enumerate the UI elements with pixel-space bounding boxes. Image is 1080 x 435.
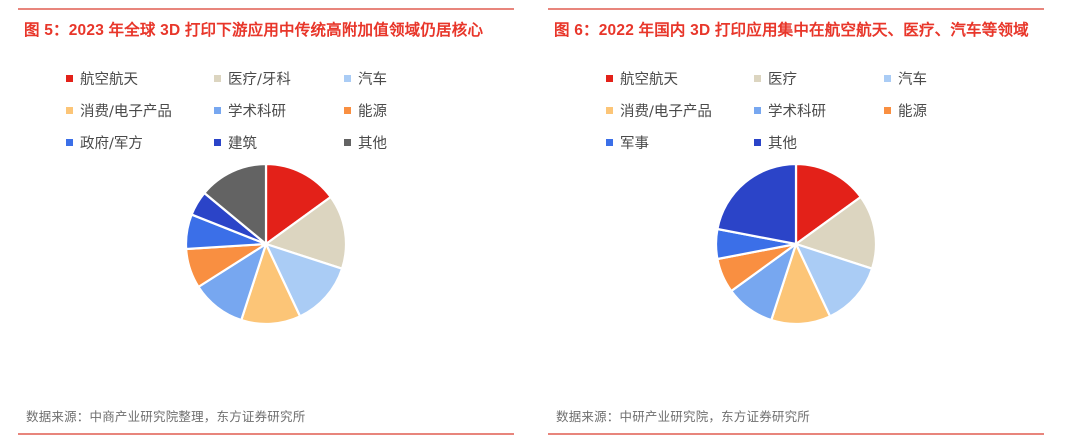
legend-item[interactable]: 其他 — [754, 132, 884, 153]
legend-item[interactable]: 学术科研 — [214, 100, 344, 121]
legend-item-label: 消费/电子产品 — [80, 100, 172, 121]
legend-swatch-icon — [884, 75, 891, 82]
pie-chart — [711, 159, 881, 329]
legend-swatch-icon — [66, 75, 73, 82]
legend-swatch-icon — [754, 107, 761, 114]
legend-swatch-icon — [606, 107, 613, 114]
pie-chart-area — [548, 153, 1044, 407]
figure-panel-6: 图 6：2022 年国内 3D 打印应用集中在航空航天、医疗、汽车等领域 航空航… — [548, 8, 1044, 435]
legend-item-label: 学术科研 — [228, 100, 286, 121]
legend: 航空航天医疗/牙科汽车消费/电子产品学术科研能源政府/军方建筑其他 — [18, 62, 514, 153]
legend-item[interactable]: 能源 — [884, 100, 1044, 121]
legend-item[interactable]: 航空航天 — [66, 68, 214, 89]
legend-swatch-icon — [884, 107, 891, 114]
source-note: 数据来源：中研产业研究院，东方证券研究所 — [548, 406, 1044, 433]
legend-item[interactable]: 消费/电子产品 — [606, 100, 754, 121]
legend-item[interactable]: 消费/电子产品 — [66, 100, 214, 121]
legend-item-label: 其他 — [768, 132, 797, 153]
legend-item-label: 消费/电子产品 — [620, 100, 712, 121]
pie-slice[interactable] — [717, 164, 796, 244]
legend-item-label: 能源 — [358, 100, 387, 121]
legend-item[interactable]: 学术科研 — [754, 100, 884, 121]
legend-item[interactable]: 航空航天 — [606, 68, 754, 89]
legend-item-label: 航空航天 — [80, 68, 138, 89]
legend-item[interactable]: 其他 — [344, 132, 514, 153]
legend-swatch-icon — [214, 107, 221, 114]
legend-swatch-icon — [606, 75, 613, 82]
legend-item-label: 学术科研 — [768, 100, 826, 121]
legend-item[interactable]: 军事 — [606, 132, 754, 153]
legend: 航空航天医疗汽车消费/电子产品学术科研能源军事其他 — [548, 62, 1044, 153]
legend-item[interactable]: 汽车 — [884, 68, 1044, 89]
legend-item[interactable]: 汽车 — [344, 68, 514, 89]
figure-panel-5: 图 5：2023 年全球 3D 打印下游应用中传统高附加值领域仍居核心 航空航天… — [18, 8, 514, 435]
legend-item-label: 汽车 — [898, 68, 927, 89]
pie-svg — [181, 159, 351, 329]
legend-item-label: 航空航天 — [620, 68, 678, 89]
legend-swatch-icon — [66, 107, 73, 114]
legend-item-label: 建筑 — [228, 132, 257, 153]
legend-swatch-icon — [754, 75, 761, 82]
source-note: 数据来源：中商产业研究院整理，东方证券研究所 — [18, 406, 514, 433]
legend-swatch-icon — [754, 139, 761, 146]
legend-item-label: 其他 — [358, 132, 387, 153]
legend-item-label: 能源 — [898, 100, 927, 121]
legend-item[interactable]: 医疗/牙科 — [214, 68, 344, 89]
legend-item[interactable]: 政府/军方 — [66, 132, 214, 153]
legend-item-label: 医疗/牙科 — [228, 68, 291, 89]
legend-item-label: 医疗 — [768, 68, 797, 89]
legend-swatch-icon — [606, 139, 613, 146]
legend-swatch-icon — [344, 139, 351, 146]
legend-swatch-icon — [344, 107, 351, 114]
page-title: 图 5：2023 年全球 3D 打印下游应用中传统高附加值领域仍居核心 — [18, 10, 514, 62]
legend-item-label: 军事 — [620, 132, 649, 153]
legend-swatch-icon — [66, 139, 73, 146]
figures-container: 图 5：2023 年全球 3D 打印下游应用中传统高附加值领域仍居核心 航空航天… — [0, 0, 1080, 435]
legend-swatch-icon — [344, 75, 351, 82]
legend-item[interactable]: 建筑 — [214, 132, 344, 153]
page-title: 图 6：2022 年国内 3D 打印应用集中在航空航天、医疗、汽车等领域 — [548, 10, 1044, 62]
pie-chart-area — [18, 153, 514, 407]
legend-swatch-icon — [214, 75, 221, 82]
legend-item[interactable]: 能源 — [344, 100, 514, 121]
legend-item-label: 汽车 — [358, 68, 387, 89]
pie-svg — [711, 159, 881, 329]
legend-item[interactable]: 医疗 — [754, 68, 884, 89]
legend-item-label: 政府/军方 — [80, 132, 143, 153]
legend-swatch-icon — [214, 139, 221, 146]
pie-chart — [181, 159, 351, 329]
